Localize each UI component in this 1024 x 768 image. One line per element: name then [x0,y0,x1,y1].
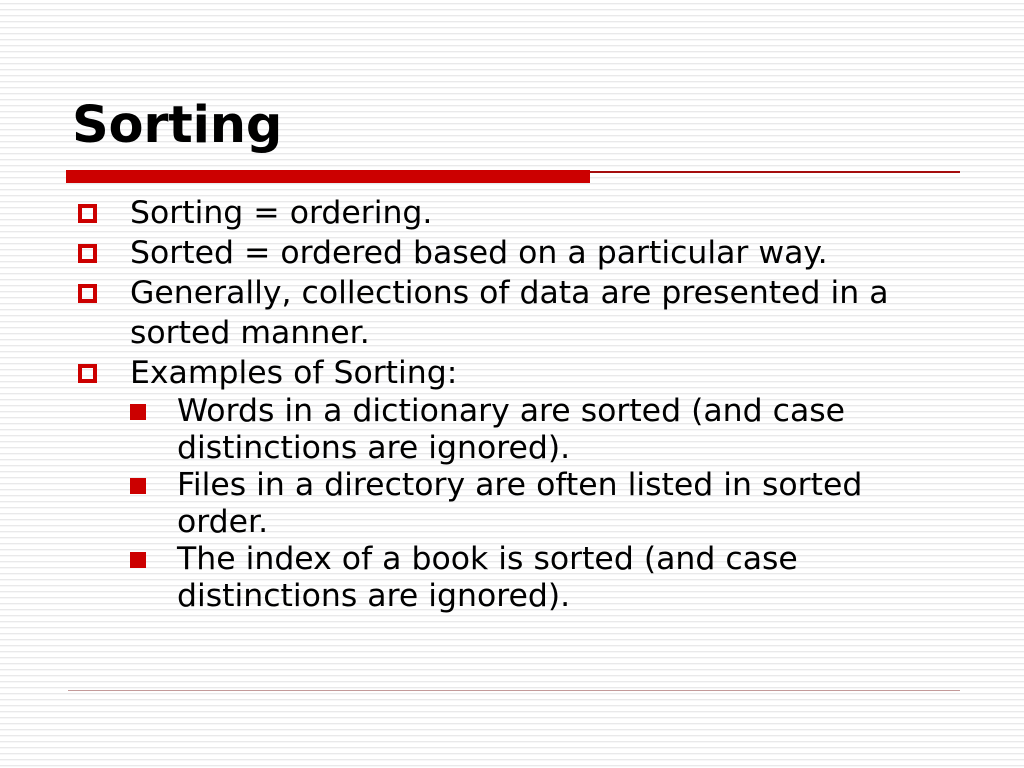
filled-square-bullet-icon [130,552,146,568]
slide-title: Sorting [72,94,952,158]
slide-body-bullet-list: Sorting = ordering. Sorted = ordered bas… [0,193,1024,615]
title-divider [66,170,960,183]
title-divider-accent-bar [66,170,590,183]
sub-bullet-text: The index of a book is sorted (and case … [177,541,944,615]
sub-bullet-item: The index of a book is sorted (and case … [0,541,1024,615]
bullet-item: Generally, collections of data are prese… [0,273,1024,353]
filled-square-bullet-icon [130,478,146,494]
bullet-item: Examples of Sorting: [0,353,1024,393]
filled-square-bullet-icon [130,404,146,420]
bullet-item: Sorting = ordering. [0,193,1024,233]
footer-divider [68,690,960,691]
sub-bullet-item: Files in a directory are often listed in… [0,467,1024,541]
bullet-text: Generally, collections of data are prese… [130,273,944,353]
hollow-square-bullet-icon [78,364,97,383]
bullet-text: Sorting = ordering. [130,193,944,233]
sub-bullet-text: Words in a dictionary are sorted (and ca… [177,393,944,467]
bullet-text: Examples of Sorting: [130,353,944,393]
sub-bullet-text: Files in a directory are often listed in… [177,467,944,541]
hollow-square-bullet-icon [78,284,97,303]
sub-bullet-item: Words in a dictionary are sorted (and ca… [0,393,1024,467]
bullet-item: Sorted = ordered based on a particular w… [0,233,1024,273]
hollow-square-bullet-icon [78,244,97,263]
slide-canvas: Sorting Sorting = ordering. Sorted = ord… [0,0,1024,768]
hollow-square-bullet-icon [78,204,97,223]
bullet-text: Sorted = ordered based on a particular w… [130,233,944,273]
